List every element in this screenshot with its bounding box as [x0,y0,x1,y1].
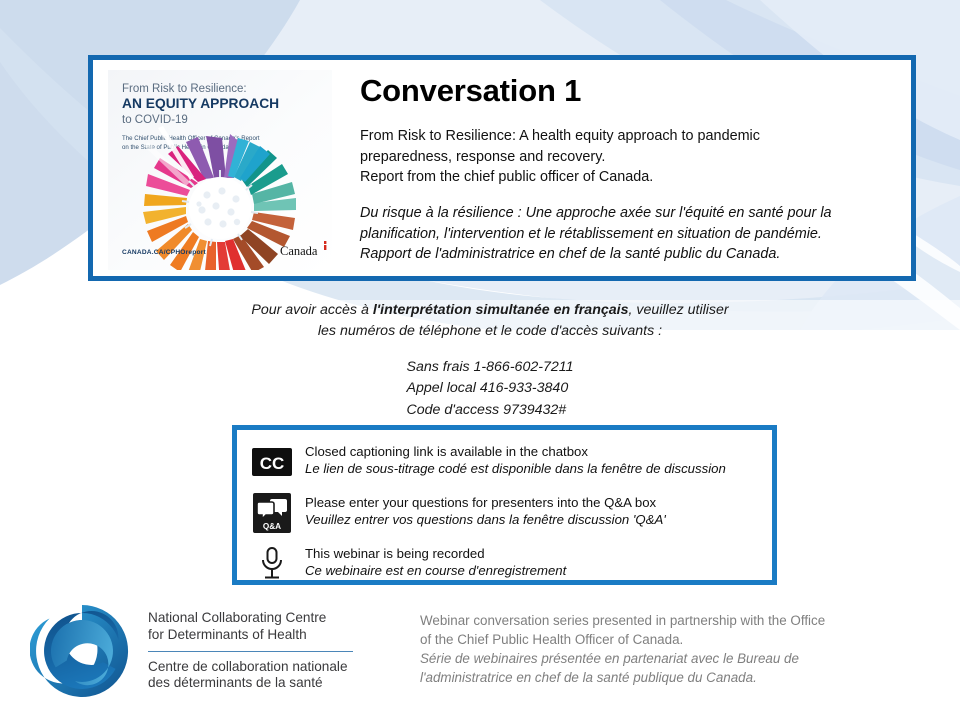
interpretation-lead: Pour avoir accès à l'interprétation simu… [180,300,800,341]
french-line-3: Rapport de l'administratrice en chef de … [360,246,780,262]
conversation-text-block: Conversation 1 From Risk to Resilience: … [360,74,911,265]
qa-chat-icon: Q&A [251,493,293,533]
english-line-3: Report from the chief public officer of … [360,169,653,185]
cover-url: CANADA.CA/CPHOreport [122,249,206,256]
logo-divider [148,651,353,652]
note-en-line2: of the Chief Public Health Officer of Ca… [420,632,683,647]
logo-french: Centre de collaboration nationale des dé… [148,659,353,693]
partnership-note: Webinar conversation series presented in… [420,611,885,687]
recording-english: This webinar is being recorded [305,545,566,562]
report-cover-thumbnail: From Risk to Resilience: AN EQUITY APPRO… [108,70,332,270]
toll-free-number: Sans frais 1-866-602-7211 [407,357,574,378]
feature-row-captioning: CC Closed captioning link is available i… [251,442,758,482]
interpretation-lead-before: Pour avoir accès à [251,302,372,318]
report-cover-artwork: From Risk to Resilience: AN EQUITY APPRO… [108,70,332,270]
interpretation-lead-line2: les numéros de téléphone et le code d'ac… [318,323,662,339]
logo-fr-line1: Centre de collaboration nationale [148,659,353,676]
cc-label: CC [260,454,285,473]
cover-line1: From Risk to Resilience: [122,83,247,95]
cover-line3: to COVID-19 [122,114,188,126]
cover-wordmark: Canada [280,244,318,258]
french-line-2: planification, l'intervention et le réta… [360,226,822,242]
qa-french: Veuillez entrer vos questions dans la fe… [305,511,666,528]
interpretation-instructions: Pour avoir accès à l'interprétation simu… [180,300,800,421]
nccdh-logo-text: National Collaborating Centre for Determ… [148,610,353,693]
captioning-french: Le lien de sous-titrage codé est disponi… [305,460,726,477]
interpretation-lead-bold: l'interprétation simultanée en français [373,302,629,318]
recording-french: Ce webinaire est en course d'enregistrem… [305,562,566,579]
cover-line2: AN EQUITY APPROACH [122,96,279,111]
logo-english: National Collaborating Centre for Determ… [148,610,353,644]
english-description: From Risk to Resilience: A health equity… [360,126,901,187]
cover-subtitle-2: on the State of Public Health in Canada … [122,144,245,151]
closed-captioning-icon: CC [251,442,293,482]
nccdh-logo-block: National Collaborating Centre for Determ… [30,597,375,705]
feature-row-qa: Q&A Please enter your questions for pres… [251,493,758,533]
feature-text-recording: This webinar is being recorded Ce webina… [305,544,566,579]
nccdh-swirl-logo [30,599,134,703]
english-line-2: preparedness, response and recovery. [360,149,605,165]
note-fr-line1: Série de webinaires présentée en partena… [420,651,799,666]
slide-canvas: From Risk to Resilience: AN EQUITY APPRO… [0,0,960,720]
partnership-note-french: Série de webinaires présentée en partena… [420,649,885,687]
access-code: Code d'access 9739432# [407,400,574,421]
page-title: Conversation 1 [360,74,901,108]
french-description: Du risque à la résilience : Une approche… [360,203,901,264]
note-en-line1: Webinar conversation series presented in… [420,613,825,628]
interpretation-lead-after: , veuillez utiliser [628,302,728,318]
logo-en-line2: for Determinants of Health [148,627,353,644]
french-line-1: Du risque à la résilience : Une approche… [360,205,832,221]
conversation-card: From Risk to Resilience: AN EQUITY APPRO… [88,55,916,281]
logo-fr-line2: des déterminants de la santé [148,675,353,692]
partnership-note-english: Webinar conversation series presented in… [420,611,885,649]
logo-en-line1: National Collaborating Centre [148,610,353,627]
feature-row-recording: This webinar is being recorded Ce webina… [251,544,758,584]
feature-text-qa: Please enter your questions for presente… [305,493,666,528]
feature-text-captioning: Closed captioning link is available in t… [305,442,726,477]
qa-label: Q&A [263,522,281,531]
microphone-recording-icon [251,544,293,584]
qa-english: Please enter your questions for presente… [305,494,666,511]
captioning-english: Closed captioning link is available in t… [305,443,726,460]
dial-in-details: Sans frais 1-866-602-7211 Appel local 41… [407,357,574,421]
webinar-features-box: CC Closed captioning link is available i… [232,425,777,585]
local-number: Appel local 416-933-3840 [407,378,574,399]
english-line-1: From Risk to Resilience: A health equity… [360,128,760,144]
note-fr-line2: l'administratrice en chef de la santé pu… [420,670,757,685]
